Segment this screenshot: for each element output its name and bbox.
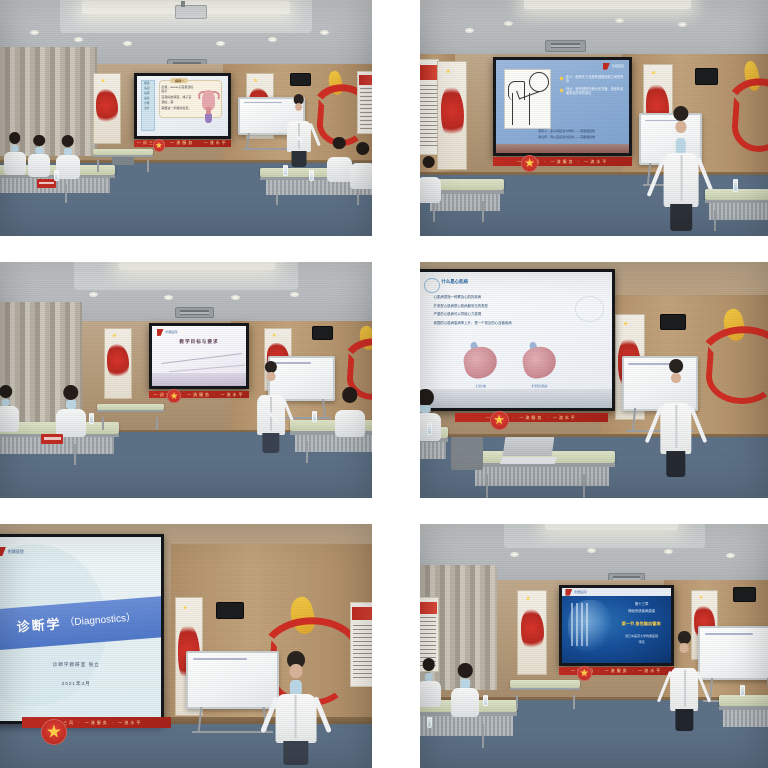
wall-slogan-strip: 一训三风 · 一流服务 · 一流水平 bbox=[493, 157, 632, 166]
slide-bullets: 定义：股骨头下及股骨颈基底部之间的骨折 特点：股骨颈的内侧为关节囊，是老年患者常… bbox=[560, 75, 624, 100]
slide-line: 心肌病是指一种累及心肌的疾病 bbox=[434, 294, 597, 301]
slide-line: 需要进一步确诊检查。 bbox=[161, 106, 194, 110]
attendee bbox=[56, 385, 86, 437]
whiteboard bbox=[698, 626, 768, 680]
water-bottle bbox=[54, 170, 59, 181]
attendee bbox=[28, 135, 50, 177]
speaker-icon bbox=[695, 68, 718, 84]
attendee bbox=[56, 135, 80, 180]
presenter-photo-5 bbox=[275, 651, 316, 763]
attendee bbox=[420, 156, 441, 203]
logo-mark bbox=[157, 329, 164, 336]
speaker-icon bbox=[290, 73, 311, 86]
photo-cell-2: 附属医院 定义：股骨头下及股骨颈基底部之间的骨折 特点：股骨颈的内侧为关节囊，是… bbox=[396, 0, 768, 250]
logo-text: 附属医院 bbox=[612, 64, 624, 68]
wall-poster bbox=[350, 602, 372, 687]
slide-title-en: （Diagnostics） bbox=[64, 611, 137, 631]
photo-6: 附属医院 第十三章 神经系统疾病患者 第一节 急性脑血管病 浙江中医药大学附属医… bbox=[420, 524, 768, 768]
desk-center bbox=[510, 680, 580, 709]
photo-cell-4: 什么是心肌病 心肌病是指一种累及心肌的疾病 扩张型心肌病是心肌病最常见的类型 严… bbox=[396, 250, 768, 512]
photo-2: 附属医院 定义：股骨头下及股骨颈基底部之间的骨折 特点：股骨颈的内侧为关节囊，是… bbox=[420, 0, 768, 236]
photo-1: 概述病因病理临床诊断治疗 病例一 患者，женщ子宫颈活检提示 宫颈癌前病变，排… bbox=[0, 0, 372, 236]
slide-line: 扩张型心肌病是心肌病最常见的类型 bbox=[434, 303, 597, 310]
slide-photo-2: 附属医院 定义：股骨头下及股骨颈基底部之间的骨折 特点：股骨颈的内侧为关节囊，是… bbox=[496, 60, 629, 153]
attendee bbox=[4, 132, 26, 174]
name-plate bbox=[37, 179, 56, 187]
photo-collage: 概述病因病理临床诊断治疗 病例一 患者，женщ子宫颈活检提示 宫颈癌前病变，排… bbox=[0, 0, 768, 768]
slide-line: 严重的心肌病可以导致心力衰竭 bbox=[434, 311, 597, 318]
water-bottle bbox=[89, 413, 94, 424]
desk-center bbox=[97, 404, 164, 430]
projection-screen: 附属医院 定义：股骨头下及股骨颈基底部之间的骨折 特点：股骨颈的内侧为关节囊，是… bbox=[496, 60, 629, 153]
slide-line: 李燕 bbox=[617, 639, 667, 645]
logo-mark bbox=[603, 63, 610, 70]
logo-mark bbox=[0, 547, 6, 556]
water-bottle bbox=[740, 685, 745, 696]
slide-line: 宫颈癌前病变，排子宫颈癌，需 bbox=[161, 95, 194, 104]
speaker-icon bbox=[312, 326, 333, 340]
logo-text: 附属医院 bbox=[166, 330, 178, 334]
slide-body: 心肌病是指一种累及心肌的疾病 扩张型心肌病是心肌病最常见的类型 严重的心肌病可以… bbox=[434, 294, 597, 329]
attendee bbox=[420, 658, 441, 707]
slide-sidebar: 概述病因病理临床诊断治疗 bbox=[141, 82, 153, 112]
heart-figure-dilated: 扩张型心肌病 bbox=[518, 343, 561, 386]
bullet-item: 特点：股骨颈的内侧为关节囊，是老年患者常见的骨折部位 bbox=[566, 87, 624, 96]
name-plate bbox=[41, 434, 63, 443]
attendee bbox=[350, 142, 372, 189]
wall-banner bbox=[517, 590, 547, 675]
slide-logo: 附属医院 bbox=[0, 544, 24, 559]
desk-center bbox=[93, 149, 153, 173]
projection-screen-frame: 附属医院 第十三章 神经系统疾病患者 第一节 急性脑血管病 浙江中医药大学附属医… bbox=[559, 585, 674, 666]
photo-cell-6: 附属医院 第十三章 神经系统疾病患者 第一节 急性脑血管病 浙江中医药大学附属医… bbox=[396, 512, 768, 768]
laptop bbox=[504, 441, 553, 474]
slide-subtitle: 诊断学教研室 张立 bbox=[0, 662, 161, 669]
bullet-item: 定义：股骨头下及股骨颈基底部之间的骨折 bbox=[566, 75, 624, 84]
chair bbox=[451, 437, 482, 470]
projection-screen: 概述病因病理临床诊断治疗 病例一 患者，женщ子宫颈活检提示 宫颈癌前病变，排… bbox=[137, 76, 228, 136]
slide-photo-1: 概述病因病理临床诊断治疗 病例一 患者，женщ子宫颈活检提示 宫颈癌前病变，排… bbox=[137, 76, 228, 136]
slide-body: 患者，женщ子宫颈活检提示 宫颈癌前病变，排子宫颈癌，需 需要进一步确诊检查。 bbox=[161, 85, 194, 113]
water-bottle bbox=[309, 170, 314, 181]
star-emblem bbox=[153, 139, 166, 152]
speaker-icon bbox=[660, 314, 686, 330]
projection-screen-frame: 附属医院 定义：股骨头下及股骨颈基底部之间的骨折 特点：股骨颈的内侧为关节囊，是… bbox=[493, 57, 632, 156]
star-emblem bbox=[41, 719, 67, 745]
photo-3: 附属医院 教学目标与要求 一训三风 · 一流服务 · 一流水平 bbox=[0, 262, 372, 498]
wall-poster bbox=[357, 71, 372, 134]
wall-slogan-strip: 一训三风 · 一流服务 · 一流水平 bbox=[134, 140, 231, 147]
photo-cell-3: 附属医院 教学目标与要求 一训三风 · 一流服务 · 一流水平 bbox=[0, 250, 396, 512]
whiteboard bbox=[186, 651, 279, 710]
femur-bone-figure bbox=[504, 69, 551, 129]
slide-photo-6: 附属医院 第十三章 神经系统疾病患者 第一节 急性脑血管病 浙江中医药大学附属医… bbox=[562, 588, 671, 663]
projection-screen: 附属医院 诊断学 （Diagnostics） 诊断学教研室 张立 2021年4月 bbox=[0, 537, 161, 721]
wall-banner bbox=[437, 61, 467, 169]
slide-photo-5: 附属医院 诊断学 （Diagnostics） 诊断学教研室 张立 2021年4月 bbox=[0, 537, 161, 721]
projection-screen: 什么是心肌病 心肌病是指一种累及心肌的疾病 扩张型心肌病是心肌病最常见的类型 严… bbox=[420, 272, 612, 408]
presenter-photo-1 bbox=[286, 94, 310, 165]
photo-cell-5: 附属医院 诊断学 （Diagnostics） 诊断学教研室 张立 2021年4月 bbox=[0, 512, 396, 768]
slide-title-cn: 诊断学 bbox=[16, 615, 62, 637]
star-emblem bbox=[490, 411, 509, 430]
slide-photo-3: 附属医院 教学目标与要求 bbox=[152, 326, 246, 386]
desk-right bbox=[719, 695, 768, 739]
logo-text: 附属医院 bbox=[8, 549, 24, 555]
presenter-photo-2 bbox=[664, 106, 699, 229]
wall-banner bbox=[104, 328, 132, 398]
water-bottle bbox=[733, 179, 738, 192]
footnote: 青壮年：则以直接暴力损伤——高能量损伤 bbox=[517, 135, 616, 139]
slide-logo: 附属医院 bbox=[565, 589, 586, 596]
attendee bbox=[0, 385, 19, 432]
projector bbox=[175, 5, 207, 19]
star-emblem bbox=[577, 666, 592, 681]
wall-banner bbox=[93, 73, 121, 143]
presenter-photo-3 bbox=[257, 361, 285, 451]
wall-slogan-strip: 一训三风 · 一流服务 · 一流水平 bbox=[455, 413, 608, 422]
wall-slogan-strip: 一训三风 · 一流服务 · 一流水平 bbox=[149, 391, 249, 398]
presenter-photo-6 bbox=[671, 631, 699, 729]
slide-line: 患者，женщ子宫颈活检提示 bbox=[161, 85, 194, 94]
water-bottle bbox=[427, 422, 432, 435]
slide-line: 神经系统疾病患者 bbox=[617, 608, 667, 614]
slide-logo: 附属医院 bbox=[603, 62, 624, 69]
star-emblem bbox=[167, 389, 180, 402]
presenter-photo-4 bbox=[660, 359, 691, 475]
projection-screen: 附属医院 第十三章 神经系统疾病患者 第一节 急性脑血管病 浙江中医药大学附属医… bbox=[562, 588, 671, 663]
speaker-icon bbox=[733, 587, 756, 601]
footnote: 老年人：多为间接暴力骨折——低能量损伤 bbox=[517, 129, 616, 133]
attendee bbox=[327, 137, 351, 182]
slide-date: 2021年4月 bbox=[0, 681, 161, 688]
slide-photo-4: 什么是心肌病 心肌病是指一种累及心肌的疾病 扩张型心肌病是心肌病最常见的类型 严… bbox=[420, 272, 612, 408]
projection-screen-frame: 附属医院 诊断学 （Diagnostics） 诊断学教研室 张立 2021年4月 bbox=[0, 534, 164, 724]
projection-screen-frame: 概述病因病理临床诊断治疗 病例一 患者，женщ子宫颈活检提示 宫颈癌前病变，排… bbox=[134, 73, 231, 139]
photo-4: 什么是心肌病 心肌病是指一种累及心肌的疾病 扩张型心肌病是心肌病最常见的类型 严… bbox=[420, 262, 768, 498]
slide-line: 我国的心肌病患病率上升，是一个常见的心血管疾病 bbox=[434, 320, 597, 327]
water-bottle bbox=[427, 717, 432, 728]
slide-footnotes: 老年人：多为间接暴力骨折——低能量损伤 青壮年：则以直接暴力损伤——高能量损伤 bbox=[517, 129, 616, 142]
slide-title: 什么是心肌病 bbox=[442, 279, 468, 285]
uterus-diagram bbox=[199, 86, 219, 124]
slide-title: 病例一 bbox=[170, 79, 188, 83]
slide-logo: 附属医院 bbox=[157, 330, 178, 335]
ceiling-vent bbox=[175, 307, 214, 318]
photo-cell-1: 概述病因病理临床诊断治疗 病例一 患者，женщ子宫颈活检提示 宫颈癌前病变，排… bbox=[0, 0, 396, 250]
projection-screen-frame: 附属医院 教学目标与要求 bbox=[149, 323, 249, 389]
attendee bbox=[451, 663, 479, 717]
water-bottle bbox=[283, 165, 288, 176]
heart-figure-normal: 正常心脏 bbox=[459, 343, 502, 386]
logo-mark bbox=[565, 589, 572, 596]
photo-5: 附属医院 诊断学 （Diagnostics） 诊断学教研室 张立 2021年4月 bbox=[0, 524, 372, 768]
logo-text: 附属医院 bbox=[574, 590, 586, 594]
attendee bbox=[335, 387, 365, 437]
projection-screen-frame: 什么是心肌病 心肌病是指一种累及心肌的疾病 扩张型心肌病是心肌病最常见的类型 严… bbox=[420, 269, 615, 411]
water-bottle bbox=[312, 411, 317, 422]
projection-screen: 附属医院 教学目标与要求 bbox=[152, 326, 246, 386]
water-bottle bbox=[483, 695, 488, 706]
slide-section: 第一节 急性脑血管病 bbox=[614, 621, 667, 627]
ceiling-vent bbox=[545, 40, 585, 51]
desk-right bbox=[705, 189, 768, 231]
speaker-icon bbox=[216, 602, 244, 619]
slide-title: 教学目标与要求 bbox=[152, 339, 246, 346]
